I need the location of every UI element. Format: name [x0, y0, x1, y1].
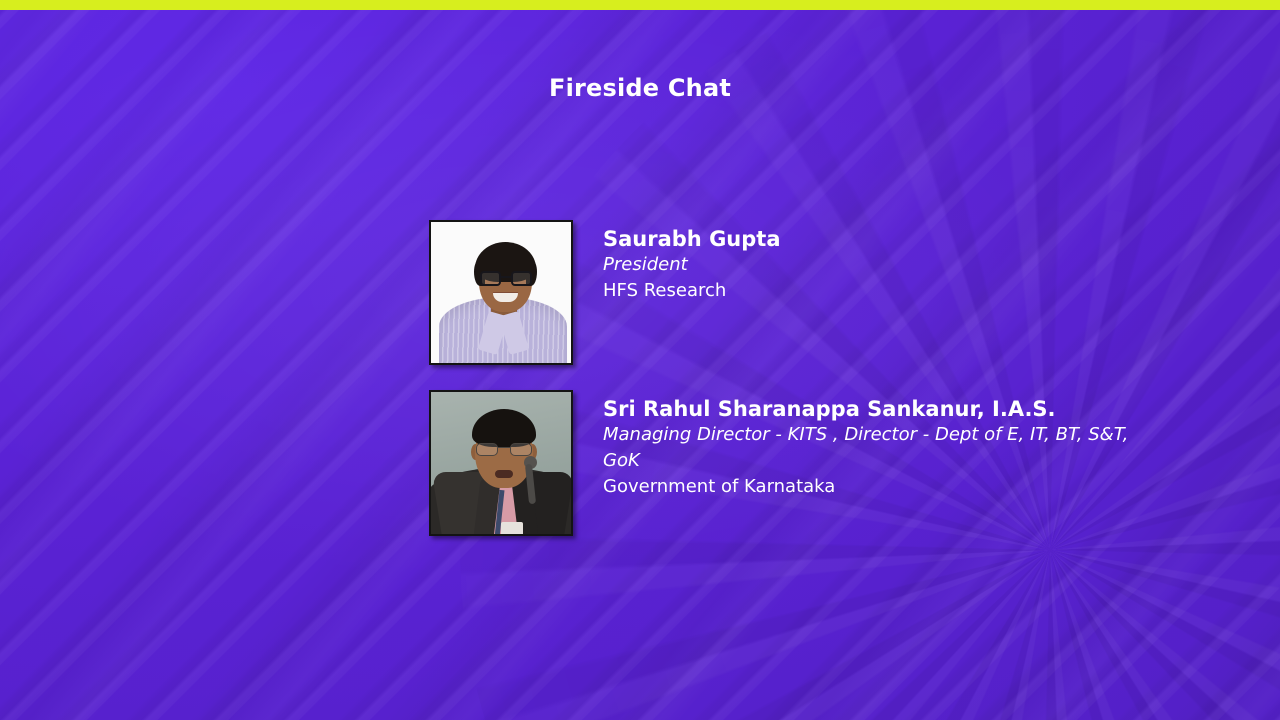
speaker-card: Saurabh Gupta President HFS Research — [429, 220, 781, 365]
speaker-name: Sri Rahul Sharanappa Sankanur, I.A.S. — [603, 396, 1133, 422]
eyeglasses-icon — [480, 271, 532, 286]
speaker-role: President — [603, 252, 781, 278]
presentation-slide: Fireside Chat — [0, 0, 1280, 720]
speaker-photo — [431, 392, 571, 534]
speaker-role: Managing Director - KITS , Director - De… — [603, 422, 1133, 474]
top-accent-bar — [0, 0, 1280, 10]
eyeglasses-icon — [476, 443, 532, 456]
speaker-photo-frame — [429, 220, 573, 365]
speaker-organization: HFS Research — [603, 278, 781, 304]
speaker-card: Sri Rahul Sharanappa Sankanur, I.A.S. Ma… — [429, 390, 1133, 536]
speaker-photo-frame — [429, 390, 573, 536]
slide-title: Fireside Chat — [0, 74, 1280, 102]
speaker-photo — [431, 222, 571, 363]
speaker-name: Saurabh Gupta — [603, 226, 781, 252]
speaker-details: Sri Rahul Sharanappa Sankanur, I.A.S. Ma… — [603, 390, 1133, 500]
speaker-details: Saurabh Gupta President HFS Research — [603, 220, 781, 304]
speaker-organization: Government of Karnataka — [603, 474, 1133, 500]
